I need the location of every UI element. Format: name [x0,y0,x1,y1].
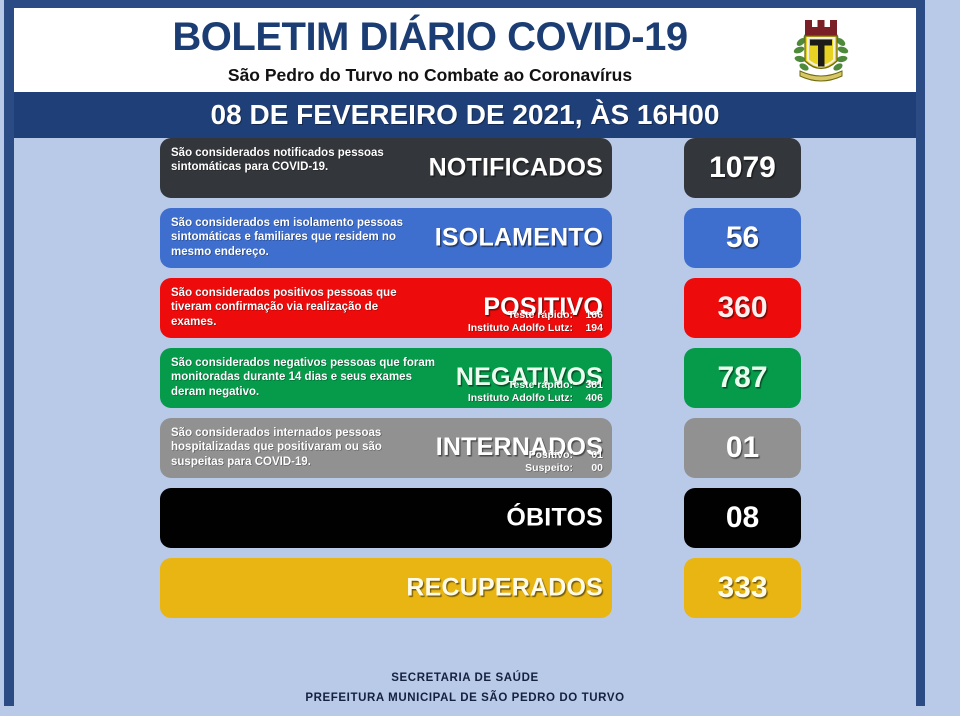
indicator-value-badge-obitos: 08 [684,488,801,548]
date-band: 08 DE FEVEREIRO DE 2021, ÀS 16H00 [14,92,916,138]
poster-footer: SECRETARIA DE SAÚDE PREFEITURA MUNICIPAL… [14,672,916,704]
indicator-value: 787 [717,363,767,393]
breakdown-label: Suspeito: [525,462,573,474]
indicator-value: 01 [726,433,759,463]
indicator-panel-isolamento: São considerados em isolamento pessoas s… [160,208,612,268]
indicator-label: ISOLAMENTO [435,224,603,253]
footer-secretaria: SECRETARIA DE SAÚDE [14,672,916,684]
bulletin-body: São considerados notificados pessoas sin… [14,138,916,714]
indicator-value: 360 [717,293,767,323]
indicator-row: RECUPERADOS333 [14,558,916,618]
indicator-description: São considerados positivos pessoas que t… [171,286,423,329]
covid-bulletin-poster: BOLETIM DIÁRIO COVID-19 São Pedro do Tur… [0,0,960,716]
breakdown-label: Positivo: [529,449,573,461]
breakdown-line: Instituto Adolfo Lutz:194 [468,322,603,335]
breakdown-line: Suspeito:00 [525,462,603,475]
indicator-label: ÓBITOS [506,504,603,533]
indicator-value: 56 [726,223,759,253]
indicator-panel-obitos: ÓBITOS [160,488,612,548]
indicator-panel-negativos: São considerados negativos pessoas que f… [160,348,612,408]
breakdown-value: 381 [573,379,603,392]
bulletin-date: 08 DE FEVEREIRO DE 2021, ÀS 16H00 [211,99,720,131]
breakdown-value: 166 [573,309,603,322]
page-title: BOLETIM DIÁRIO COVID-19 [14,15,916,60]
indicator-value: 08 [726,503,759,533]
indicator-value-badge-positivo: 360 [684,278,801,338]
breakdown-line: Teste rápido:381 [468,379,603,392]
indicator-breakdown: Teste rápido:166Instituto Adolfo Lutz:19… [468,309,603,334]
indicator-breakdown: Teste rápido:381Instituto Adolfo Lutz:40… [468,379,603,404]
indicator-label: RECUPERADOS [406,574,603,603]
breakdown-label: Teste rápido: [508,309,573,321]
indicator-row: São considerados negativos pessoas que f… [14,348,916,408]
indicator-panel-positivo: São considerados positivos pessoas que t… [160,278,612,338]
indicator-value-badge-notificados: 1079 [684,138,801,198]
indicator-value-badge-isolamento: 56 [684,208,801,268]
breakdown-label: Teste rápido: [508,379,573,391]
breakdown-line: Teste rápido:166 [468,309,603,322]
indicator-row: ÓBITOS08 [14,488,916,548]
footer-prefeitura: PREFEITURA MUNICIPAL DE SÃO PEDRO DO TUR… [14,692,916,704]
indicator-panel-notificados: São considerados notificados pessoas sin… [160,138,612,198]
indicator-value-badge-recuperados: 333 [684,558,801,618]
indicator-description: São considerados em isolamento pessoas s… [171,216,423,259]
breakdown-line: Instituto Adolfo Lutz:406 [468,392,603,405]
indicator-breakdown: Positivo:01Suspeito:00 [525,449,603,474]
indicator-value: 333 [717,573,767,603]
indicator-description: São considerados internados pessoas hosp… [171,426,436,469]
breakdown-label: Instituto Adolfo Lutz: [468,392,573,404]
indicator-row: São considerados positivos pessoas que t… [14,278,916,338]
breakdown-line: Positivo:01 [525,449,603,462]
indicator-value-badge-internados: 01 [684,418,801,478]
poster-header: BOLETIM DIÁRIO COVID-19 São Pedro do Tur… [14,8,916,92]
indicator-description: São considerados notificados pessoas sin… [171,146,423,175]
indicator-value-badge-negativos: 787 [684,348,801,408]
breakdown-label: Instituto Adolfo Lutz: [468,322,573,334]
indicator-rows: São considerados notificados pessoas sin… [14,138,916,628]
bulletin-card: BOLETIM DIÁRIO COVID-19 São Pedro do Tur… [4,0,925,706]
bulletin-card-inner: BOLETIM DIÁRIO COVID-19 São Pedro do Tur… [14,8,916,697]
indicator-row: São considerados internados pessoas hosp… [14,418,916,478]
indicator-panel-recuperados: RECUPERADOS [160,558,612,618]
indicator-row: São considerados em isolamento pessoas s… [14,208,916,268]
indicator-value: 1079 [709,153,776,183]
breakdown-value: 00 [573,462,603,475]
indicator-panel-internados: São considerados internados pessoas hosp… [160,418,612,478]
coat-of-arms-icon [788,14,854,86]
indicator-label: NOTIFICADOS [429,154,603,183]
breakdown-value: 406 [573,392,603,405]
page-subtitle: São Pedro do Turvo no Combate ao Coronav… [14,65,916,86]
breakdown-value: 01 [573,449,603,462]
indicator-description: São considerados negativos pessoas que f… [171,356,436,399]
indicator-row: São considerados notificados pessoas sin… [14,138,916,198]
breakdown-value: 194 [573,322,603,335]
